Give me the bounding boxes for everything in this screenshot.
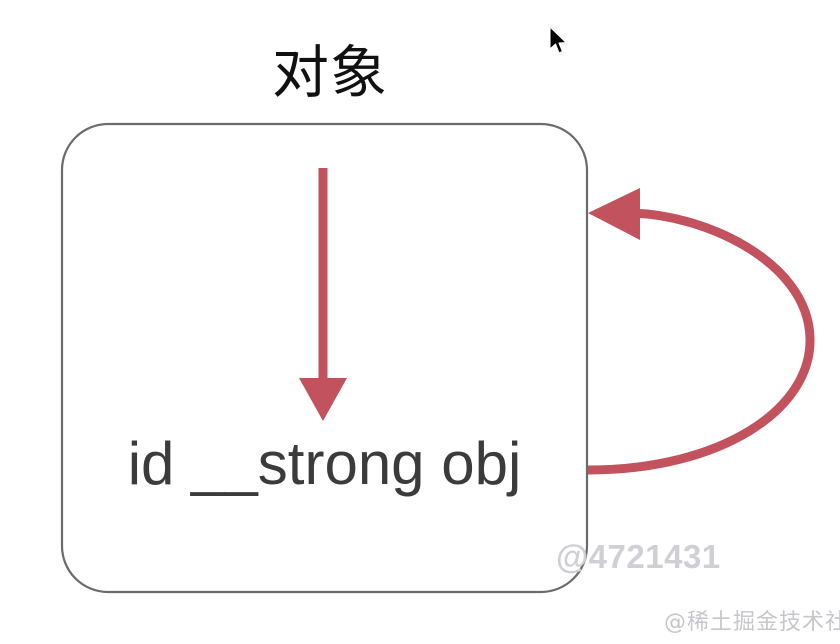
diagram-canvas: 对象 id __strong obj @4721431 @稀土掘金技术社区 xyxy=(0,0,840,644)
mouse-pointer-icon xyxy=(548,26,570,58)
self-reference-loop-arrow xyxy=(588,188,810,470)
object-box-label: id __strong obj xyxy=(62,424,587,504)
